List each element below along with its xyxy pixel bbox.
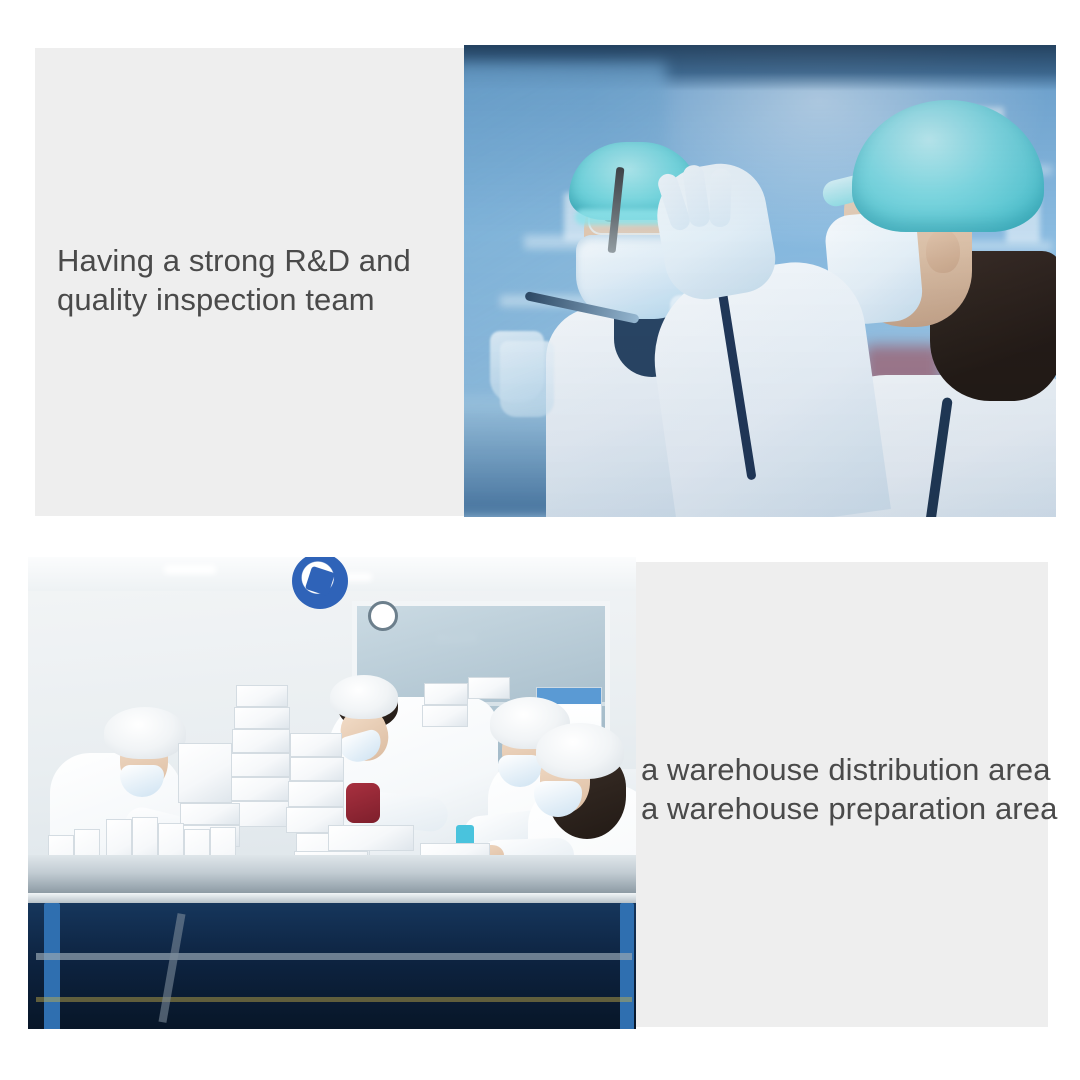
carton bbox=[180, 803, 240, 825]
research-quality-caption: Having a strong R&D and quality inspecti… bbox=[57, 241, 411, 319]
carton bbox=[234, 707, 290, 729]
top-caption-panel: Having a strong R&D and quality inspecti… bbox=[35, 48, 464, 516]
carton bbox=[236, 685, 288, 707]
laboratory-quality-inspection-photo bbox=[464, 45, 1056, 517]
carton bbox=[290, 757, 344, 781]
under-table-shadow bbox=[28, 903, 636, 1029]
carton bbox=[178, 743, 232, 803]
table-leg bbox=[620, 903, 634, 1029]
warehouse-caption-line-2: a warehouse preparation area bbox=[641, 789, 1057, 828]
warehouse-packing-photo bbox=[28, 557, 636, 1029]
ceiling-light bbox=[164, 565, 216, 574]
warehouse-caption-line-1: a warehouse distribution area bbox=[641, 750, 1057, 789]
warehouse-worker-hairnet bbox=[536, 723, 624, 779]
research-quality-caption-line-2: quality inspection team bbox=[57, 280, 411, 319]
warehouse-worker-red-accent bbox=[346, 783, 380, 823]
table-rail bbox=[36, 953, 632, 960]
carton bbox=[228, 777, 290, 801]
image-collage: Having a strong R&D and quality inspecti… bbox=[0, 0, 1080, 1080]
carton bbox=[230, 753, 290, 777]
bottom-caption-panel: a warehouse distribution area a warehous… bbox=[636, 562, 1048, 1027]
carton bbox=[328, 825, 414, 851]
carton bbox=[288, 781, 344, 807]
carton bbox=[422, 705, 468, 727]
table-leg bbox=[44, 903, 60, 1029]
wall-clock-icon bbox=[368, 601, 398, 631]
floor-marking bbox=[36, 997, 632, 1002]
warehouse-caption: a warehouse distribution area a warehous… bbox=[641, 750, 1057, 828]
carton bbox=[290, 733, 342, 757]
carton bbox=[232, 729, 290, 753]
warehouse-worker-hairnet bbox=[104, 707, 186, 759]
warehouse-worker-hairnet bbox=[330, 675, 398, 719]
research-quality-caption-line-1: Having a strong R&D and bbox=[57, 241, 411, 280]
carton bbox=[424, 683, 468, 705]
carton bbox=[468, 677, 510, 699]
table-edge bbox=[28, 893, 636, 903]
lab-photo-color-tint bbox=[464, 45, 1056, 517]
